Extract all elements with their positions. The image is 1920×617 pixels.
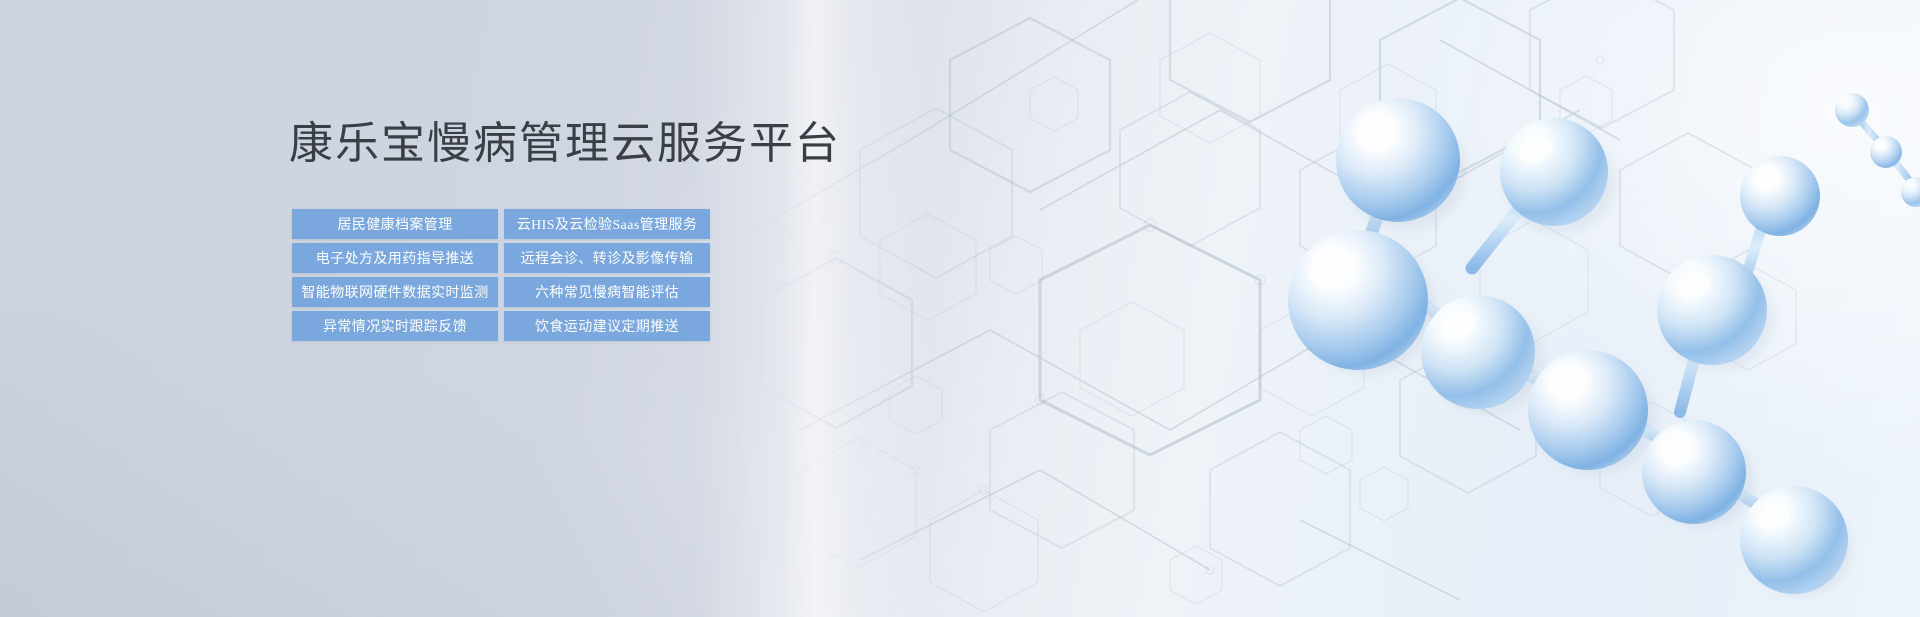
feature-item-iot-device-monitoring[interactable]: 智能物联网硬件数据实时监测 bbox=[292, 277, 498, 307]
hero-banner: 康乐宝慢病管理云服务平台 居民健康档案管理 云HIS及云检验Saas管理服务 电… bbox=[0, 0, 1920, 617]
banner-content: 康乐宝慢病管理云服务平台 居民健康档案管理 云HIS及云检验Saas管理服务 电… bbox=[0, 0, 780, 617]
feature-item-chronic-disease-assessment[interactable]: 六种常见慢病智能评估 bbox=[504, 277, 710, 307]
light-bloom-decoration bbox=[1020, 0, 1920, 617]
feature-label: 居民健康档案管理 bbox=[337, 214, 452, 234]
feature-label: 饮食运动建议定期推送 bbox=[535, 316, 679, 336]
feature-item-remote-consultation[interactable]: 远程会诊、转诊及影像传输 bbox=[504, 243, 710, 273]
feature-item-eprescription-guidance[interactable]: 电子处方及用药指导推送 bbox=[292, 243, 498, 273]
feature-item-anomaly-tracking-feedback[interactable]: 异常情况实时跟踪反馈 bbox=[292, 311, 498, 341]
feature-item-resident-health-records[interactable]: 居民健康档案管理 bbox=[292, 209, 498, 239]
hexagon-molecule-network-icon bbox=[740, 0, 1920, 617]
molecule-sphere-chain-icon bbox=[1080, 0, 1920, 617]
feature-label: 智能物联网硬件数据实时监测 bbox=[301, 282, 488, 302]
feature-label: 远程会诊、转诊及影像传输 bbox=[521, 248, 694, 268]
feature-label: 异常情况实时跟踪反馈 bbox=[323, 316, 467, 336]
page-title: 康乐宝慢病管理云服务平台 bbox=[289, 118, 841, 171]
feature-item-diet-exercise-advice[interactable]: 饮食运动建议定期推送 bbox=[504, 311, 710, 341]
feature-label: 六种常见慢病智能评估 bbox=[535, 282, 679, 302]
feature-label: 电子处方及用药指导推送 bbox=[316, 248, 474, 268]
feature-label: 云HIS及云检验Saas管理服务 bbox=[517, 214, 698, 234]
feature-grid: 居民健康档案管理 云HIS及云检验Saas管理服务 电子处方及用药指导推送 远程… bbox=[292, 209, 710, 341]
feature-item-cloud-his-lab-saas[interactable]: 云HIS及云检验Saas管理服务 bbox=[504, 209, 710, 239]
